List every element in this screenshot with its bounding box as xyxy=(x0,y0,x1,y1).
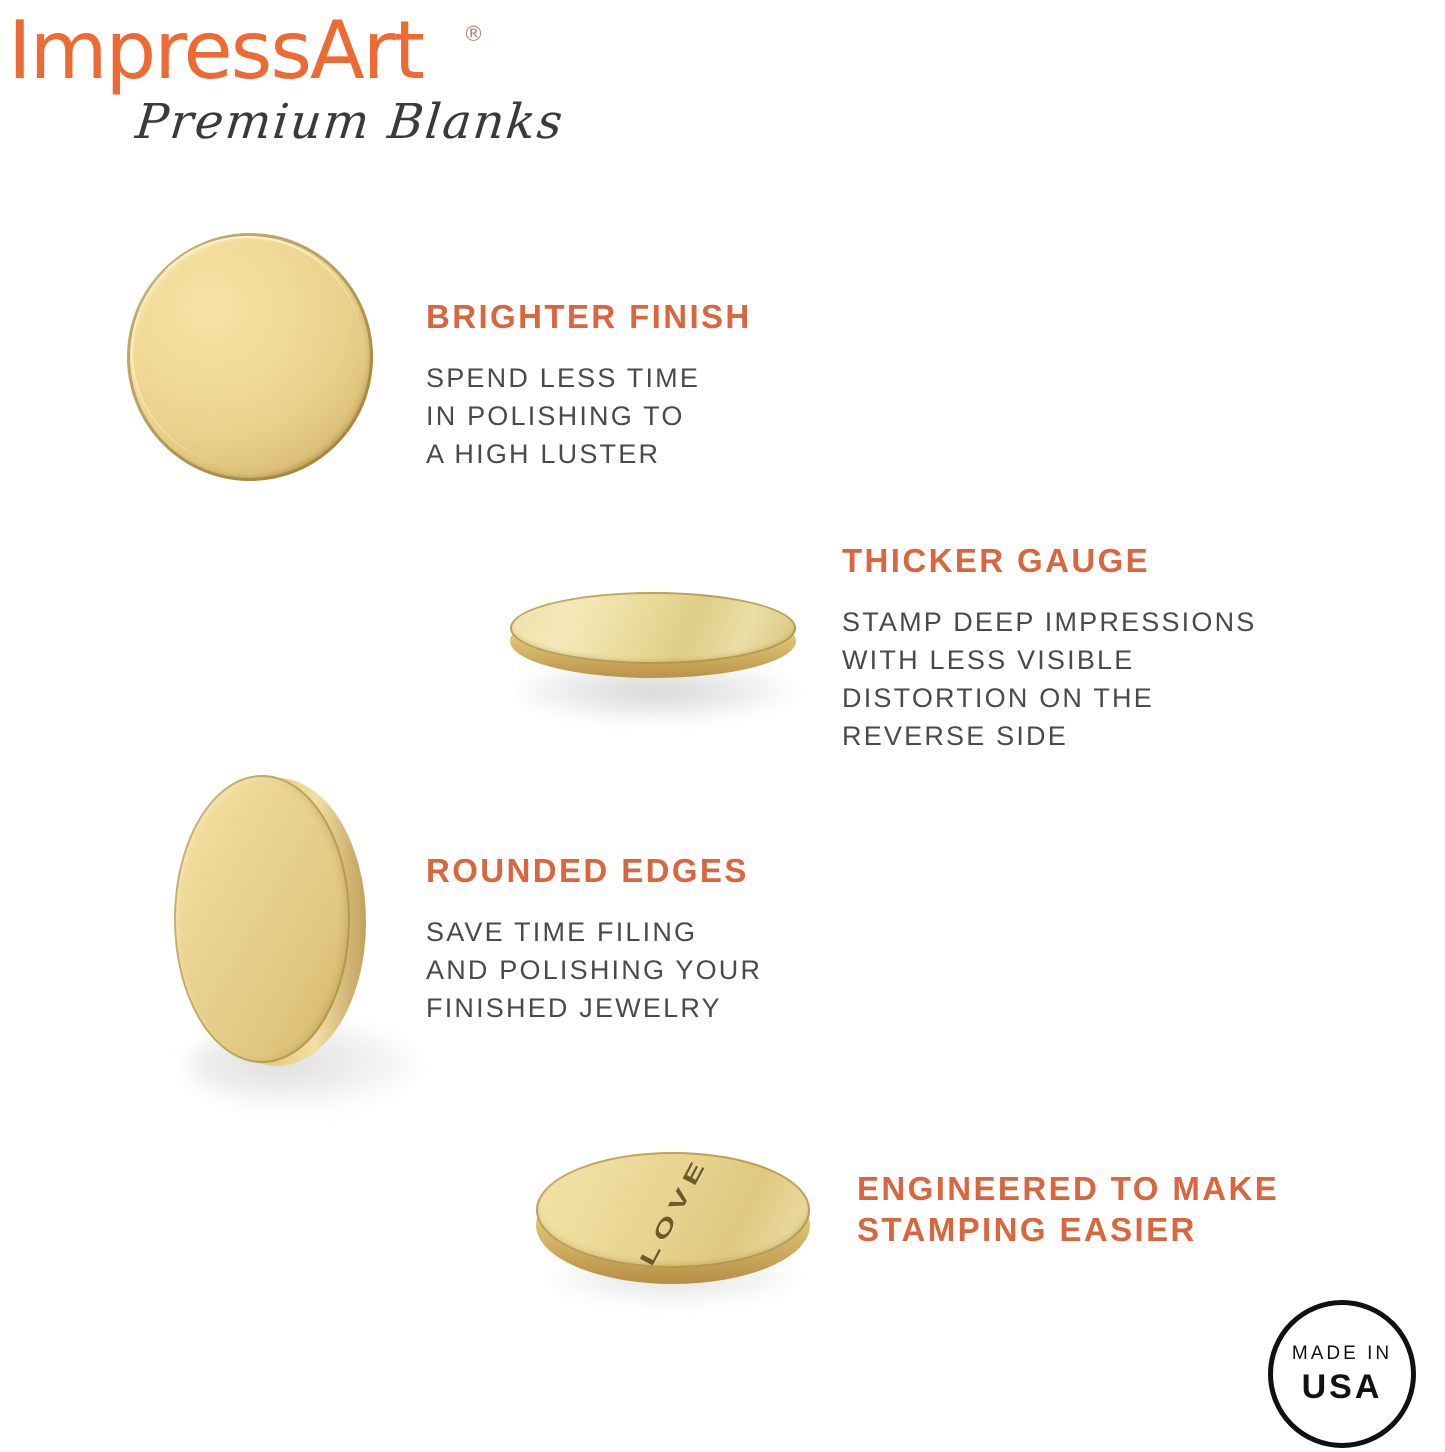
feature-body: SAVE TIME FILING AND POLISHING YOUR FINI… xyxy=(426,913,762,1027)
disc-rim-highlight xyxy=(131,236,363,467)
feature-body: SPEND LESS TIME IN POLISHING TO A HIGH L… xyxy=(426,359,752,473)
feature-body-line: WITH LESS VISIBLE xyxy=(842,641,1257,679)
gold-blank-disc-edge-view xyxy=(508,588,798,718)
registered-trademark-icon: ® xyxy=(463,24,484,45)
feature-block-brighter-finish: BRIGHTER FINISH SPEND LESS TIME IN POLIS… xyxy=(426,296,752,473)
gold-blank-disc-stamped-love: LOVE xyxy=(534,1146,814,1306)
feature-body-line: SAVE TIME FILING xyxy=(426,913,762,951)
brand-wordmark: ImpressArt xyxy=(8,6,423,96)
feature-body-line: A HIGH LUSTER xyxy=(426,435,752,473)
feature-heading: BRIGHTER FINISH xyxy=(426,296,752,337)
feature-block-thicker-gauge: THICKER GAUGE STAMP DEEP IMPRESSIONS WIT… xyxy=(842,540,1257,755)
feature-body-line: SPEND LESS TIME xyxy=(426,359,752,397)
feature-body: STAMP DEEP IMPRESSIONS WITH LESS VISIBLE… xyxy=(842,603,1257,755)
made-in-usa-badge: MADE IN USA xyxy=(1268,1300,1416,1448)
badge-line-usa: USA xyxy=(1302,1368,1383,1406)
feature-block-engineered-stamping: ENGINEERED TO MAKE STAMPING EASIER xyxy=(857,1168,1279,1250)
gold-blank-disc-face-view xyxy=(127,233,373,481)
disc-rim xyxy=(174,775,350,1063)
feature-heading: ROUNDED EDGES xyxy=(426,850,762,891)
feature-body-line: DISTORTION ON THE xyxy=(842,679,1257,717)
infographic-page: ImpressArt ® Premium Blanks BRIGHTER FIN… xyxy=(0,0,1445,1452)
brand-logo: ImpressArt ® Premium Blanks xyxy=(8,6,628,166)
feature-body-line: FINISHED JEWELRY xyxy=(426,989,762,1027)
badge-line-made-in: MADE IN xyxy=(1292,1342,1392,1366)
feature-heading: ENGINEERED TO MAKE xyxy=(857,1168,1279,1209)
feature-body-line: STAMP DEEP IMPRESSIONS xyxy=(842,603,1257,641)
feature-body-line: AND POLISHING YOUR xyxy=(426,951,762,989)
feature-heading: THICKER GAUGE xyxy=(842,540,1257,581)
feature-heading: STAMPING EASIER xyxy=(857,1209,1279,1250)
brand-tagline: Premium Blanks xyxy=(133,92,567,152)
feature-body-line: IN POLISHING TO xyxy=(426,397,752,435)
feature-block-rounded-edges: ROUNDED EDGES SAVE TIME FILING AND POLIS… xyxy=(426,850,762,1027)
disc-rim xyxy=(536,1152,810,1268)
feature-body-line: REVERSE SIDE xyxy=(842,717,1257,755)
disc-rim xyxy=(510,592,796,664)
gold-blank-disc-upright-view xyxy=(170,775,370,1070)
